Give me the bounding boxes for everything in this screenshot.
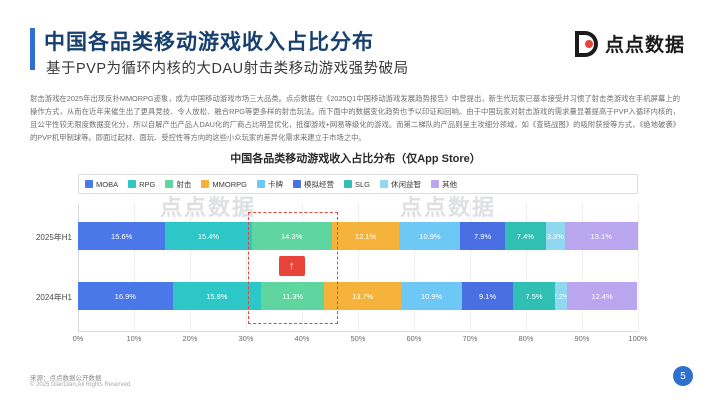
legend-swatch-icon bbox=[201, 180, 209, 188]
legend-label: 卡牌 bbox=[268, 179, 283, 190]
legend-swatch-icon bbox=[344, 180, 352, 188]
x-tick-label: 20% bbox=[182, 334, 197, 343]
legend-label: 休闲益智 bbox=[391, 179, 421, 190]
x-tick-label: 80% bbox=[518, 334, 533, 343]
chart-title: 中国各品类移动游戏收入占比分布（仅App Store） bbox=[30, 150, 681, 166]
x-axis-ticks: 0%10%20%30%40%50%60%70%80%90%100% bbox=[78, 334, 638, 348]
brand-logo: 点点数据 bbox=[575, 30, 685, 57]
x-tick-label: 10% bbox=[126, 334, 141, 343]
legend-item: MOBA bbox=[85, 180, 118, 189]
legend-label: MOBA bbox=[96, 180, 118, 189]
bar-segment: 9.1% bbox=[462, 282, 513, 310]
slide-page: 中国各品类移动游戏收入占比分布 基于PVP为循环内核的大DAU射击类移动游戏强势… bbox=[0, 0, 711, 400]
legend-swatch-icon bbox=[85, 180, 93, 188]
legend-swatch-icon bbox=[257, 180, 265, 188]
bar-segment: 10.9% bbox=[399, 222, 460, 250]
bar-segment: 7.5% bbox=[513, 282, 555, 310]
x-tick-label: 40% bbox=[294, 334, 309, 343]
source-note: 来源：点点数据公开数据 bbox=[30, 372, 102, 382]
logo-d-icon bbox=[575, 31, 599, 57]
legend-item: 其他 bbox=[431, 179, 457, 190]
page-number: 5 bbox=[673, 366, 693, 386]
bar-segment: 15.4% bbox=[165, 222, 251, 250]
x-tick-label: 30% bbox=[238, 334, 253, 343]
legend-label: 模拟经营 bbox=[304, 179, 334, 190]
bar-segment: 7.9% bbox=[460, 222, 504, 250]
x-tick-label: 60% bbox=[406, 334, 421, 343]
y-axis-label: 2024年H1 bbox=[32, 292, 72, 303]
bar-segment: 15.8% bbox=[173, 282, 261, 310]
legend-label: SLG bbox=[355, 180, 370, 189]
chart-card: 中国各品类移动游戏收入占比分布（仅App Store） MOBARPG射击MMO… bbox=[30, 150, 681, 365]
bar-segment: 10.9% bbox=[401, 282, 462, 310]
bar-segment: 13.1% bbox=[565, 222, 638, 250]
chart-legend: MOBARPG射击MMORPG卡牌模拟经营SLG休闲益智其他 bbox=[78, 174, 638, 194]
body-paragraph: 射击游戏在2025年出现反扑MMORPG迹象，成为中国移动游戏市场三大品类。点点… bbox=[30, 92, 680, 145]
bar-segment: 3.3% bbox=[546, 222, 564, 250]
bar-row: 16.9%15.8%11.3%13.7%10.9%9.1%7.5%2.2%12.… bbox=[78, 282, 638, 310]
legend-item: RPG bbox=[128, 180, 155, 189]
x-tick-label: 70% bbox=[462, 334, 477, 343]
legend-item: 卡牌 bbox=[257, 179, 283, 190]
bar-segment: 14.3% bbox=[252, 222, 332, 250]
x-tick-label: 90% bbox=[574, 334, 589, 343]
bar-segment: 16.9% bbox=[78, 282, 173, 310]
x-tick-label: 50% bbox=[350, 334, 365, 343]
legend-swatch-icon bbox=[431, 180, 439, 188]
gridline bbox=[638, 204, 639, 332]
legend-swatch-icon bbox=[128, 180, 136, 188]
bar-segment: 2.2% bbox=[555, 282, 567, 310]
y-axis-label: 2025年H1 bbox=[32, 232, 72, 243]
legend-item: 休闲益智 bbox=[380, 179, 421, 190]
bar-segment: 11.3% bbox=[261, 282, 324, 310]
legend-item: 模拟经营 bbox=[293, 179, 334, 190]
title-accent-bar bbox=[30, 28, 35, 70]
page-subtitle: 基于PVP为循环内核的大DAU射击类移动游戏强势破局 bbox=[46, 57, 409, 78]
trend-arrow-icon: ↑ bbox=[279, 256, 305, 276]
bar-segment: 15.6% bbox=[78, 222, 165, 250]
legend-swatch-icon bbox=[293, 180, 301, 188]
legend-label: RPG bbox=[139, 180, 155, 189]
legend-item: SLG bbox=[344, 180, 370, 189]
legend-item: MMORPG bbox=[201, 180, 247, 189]
legend-item: 射击 bbox=[165, 179, 191, 190]
copyright-note: © 2025 DianDian,All Rights Reserved. bbox=[30, 382, 132, 388]
bar-segment: 13.7% bbox=[324, 282, 401, 310]
legend-label: 其他 bbox=[442, 179, 457, 190]
x-tick-label: 100% bbox=[628, 334, 647, 343]
bar-segment: 12.4% bbox=[567, 282, 636, 310]
legend-label: 射击 bbox=[176, 179, 191, 190]
legend-label: MMORPG bbox=[212, 180, 247, 189]
bar-segment: 12.1% bbox=[332, 222, 400, 250]
bar-row: 15.6%15.4%14.3%12.1%10.9%7.9%7.4%3.3%13.… bbox=[78, 222, 638, 250]
paragraph-line: 射击游戏在2025年出现反扑MMORPG迹象，成为中国移动游戏市场三大品类。点点… bbox=[30, 92, 680, 144]
slide-header: 中国各品类移动游戏收入占比分布 基于PVP为循环内核的大DAU射击类移动游戏强势… bbox=[0, 0, 711, 92]
bar-segment: 7.4% bbox=[505, 222, 546, 250]
legend-swatch-icon bbox=[165, 180, 173, 188]
page-title: 中国各品类移动游戏收入占比分布 bbox=[44, 26, 374, 56]
logo-text: 点点数据 bbox=[605, 30, 685, 57]
x-tick-label: 0% bbox=[73, 334, 84, 343]
chart-plot-area: 2025年H115.6%15.4%14.3%12.1%10.9%7.9%7.4%… bbox=[78, 204, 638, 332]
legend-swatch-icon bbox=[380, 180, 388, 188]
